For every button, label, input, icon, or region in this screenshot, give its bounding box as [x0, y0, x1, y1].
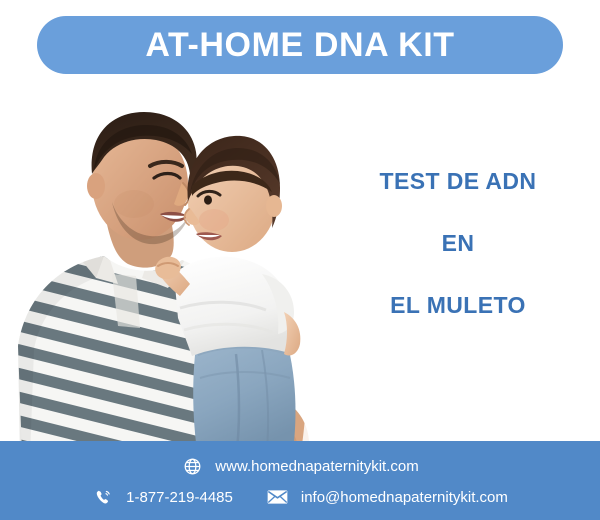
family-photo-image: [0, 78, 330, 458]
footer-email[interactable]: info@homednapaternitykit.com: [267, 486, 508, 508]
footer-bar: www.homednapaternitykit.com 1-877-219-44…: [0, 441, 600, 520]
footer-website-label: www.homednapaternitykit.com: [215, 459, 418, 474]
footer-contact-row: 1-877-219-4485 info@homednapaternitykit.…: [0, 486, 600, 508]
footer-website[interactable]: www.homednapaternitykit.com: [181, 455, 418, 477]
header-banner: AT-HOME DNA KIT: [37, 16, 563, 74]
envelope-icon: [267, 486, 289, 508]
poster-root: AT-HOME DNA KIT: [0, 0, 600, 520]
headline-line-1: TEST DE ADN: [330, 170, 586, 193]
footer-phone-label: 1-877-219-4485: [126, 490, 233, 505]
headline-block: TEST DE ADN EN EL MULETO: [330, 150, 586, 317]
globe-icon: [181, 455, 203, 477]
footer-website-row: www.homednapaternitykit.com: [0, 455, 600, 477]
family-photo: [0, 78, 330, 458]
phone-icon: [92, 486, 114, 508]
header-title: AT-HOME DNA KIT: [145, 28, 454, 62]
headline-line-3: EL MULETO: [330, 294, 586, 317]
footer-email-label: info@homednapaternitykit.com: [301, 490, 508, 505]
headline-line-2: EN: [330, 232, 586, 255]
footer-phone[interactable]: 1-877-219-4485: [92, 486, 233, 508]
